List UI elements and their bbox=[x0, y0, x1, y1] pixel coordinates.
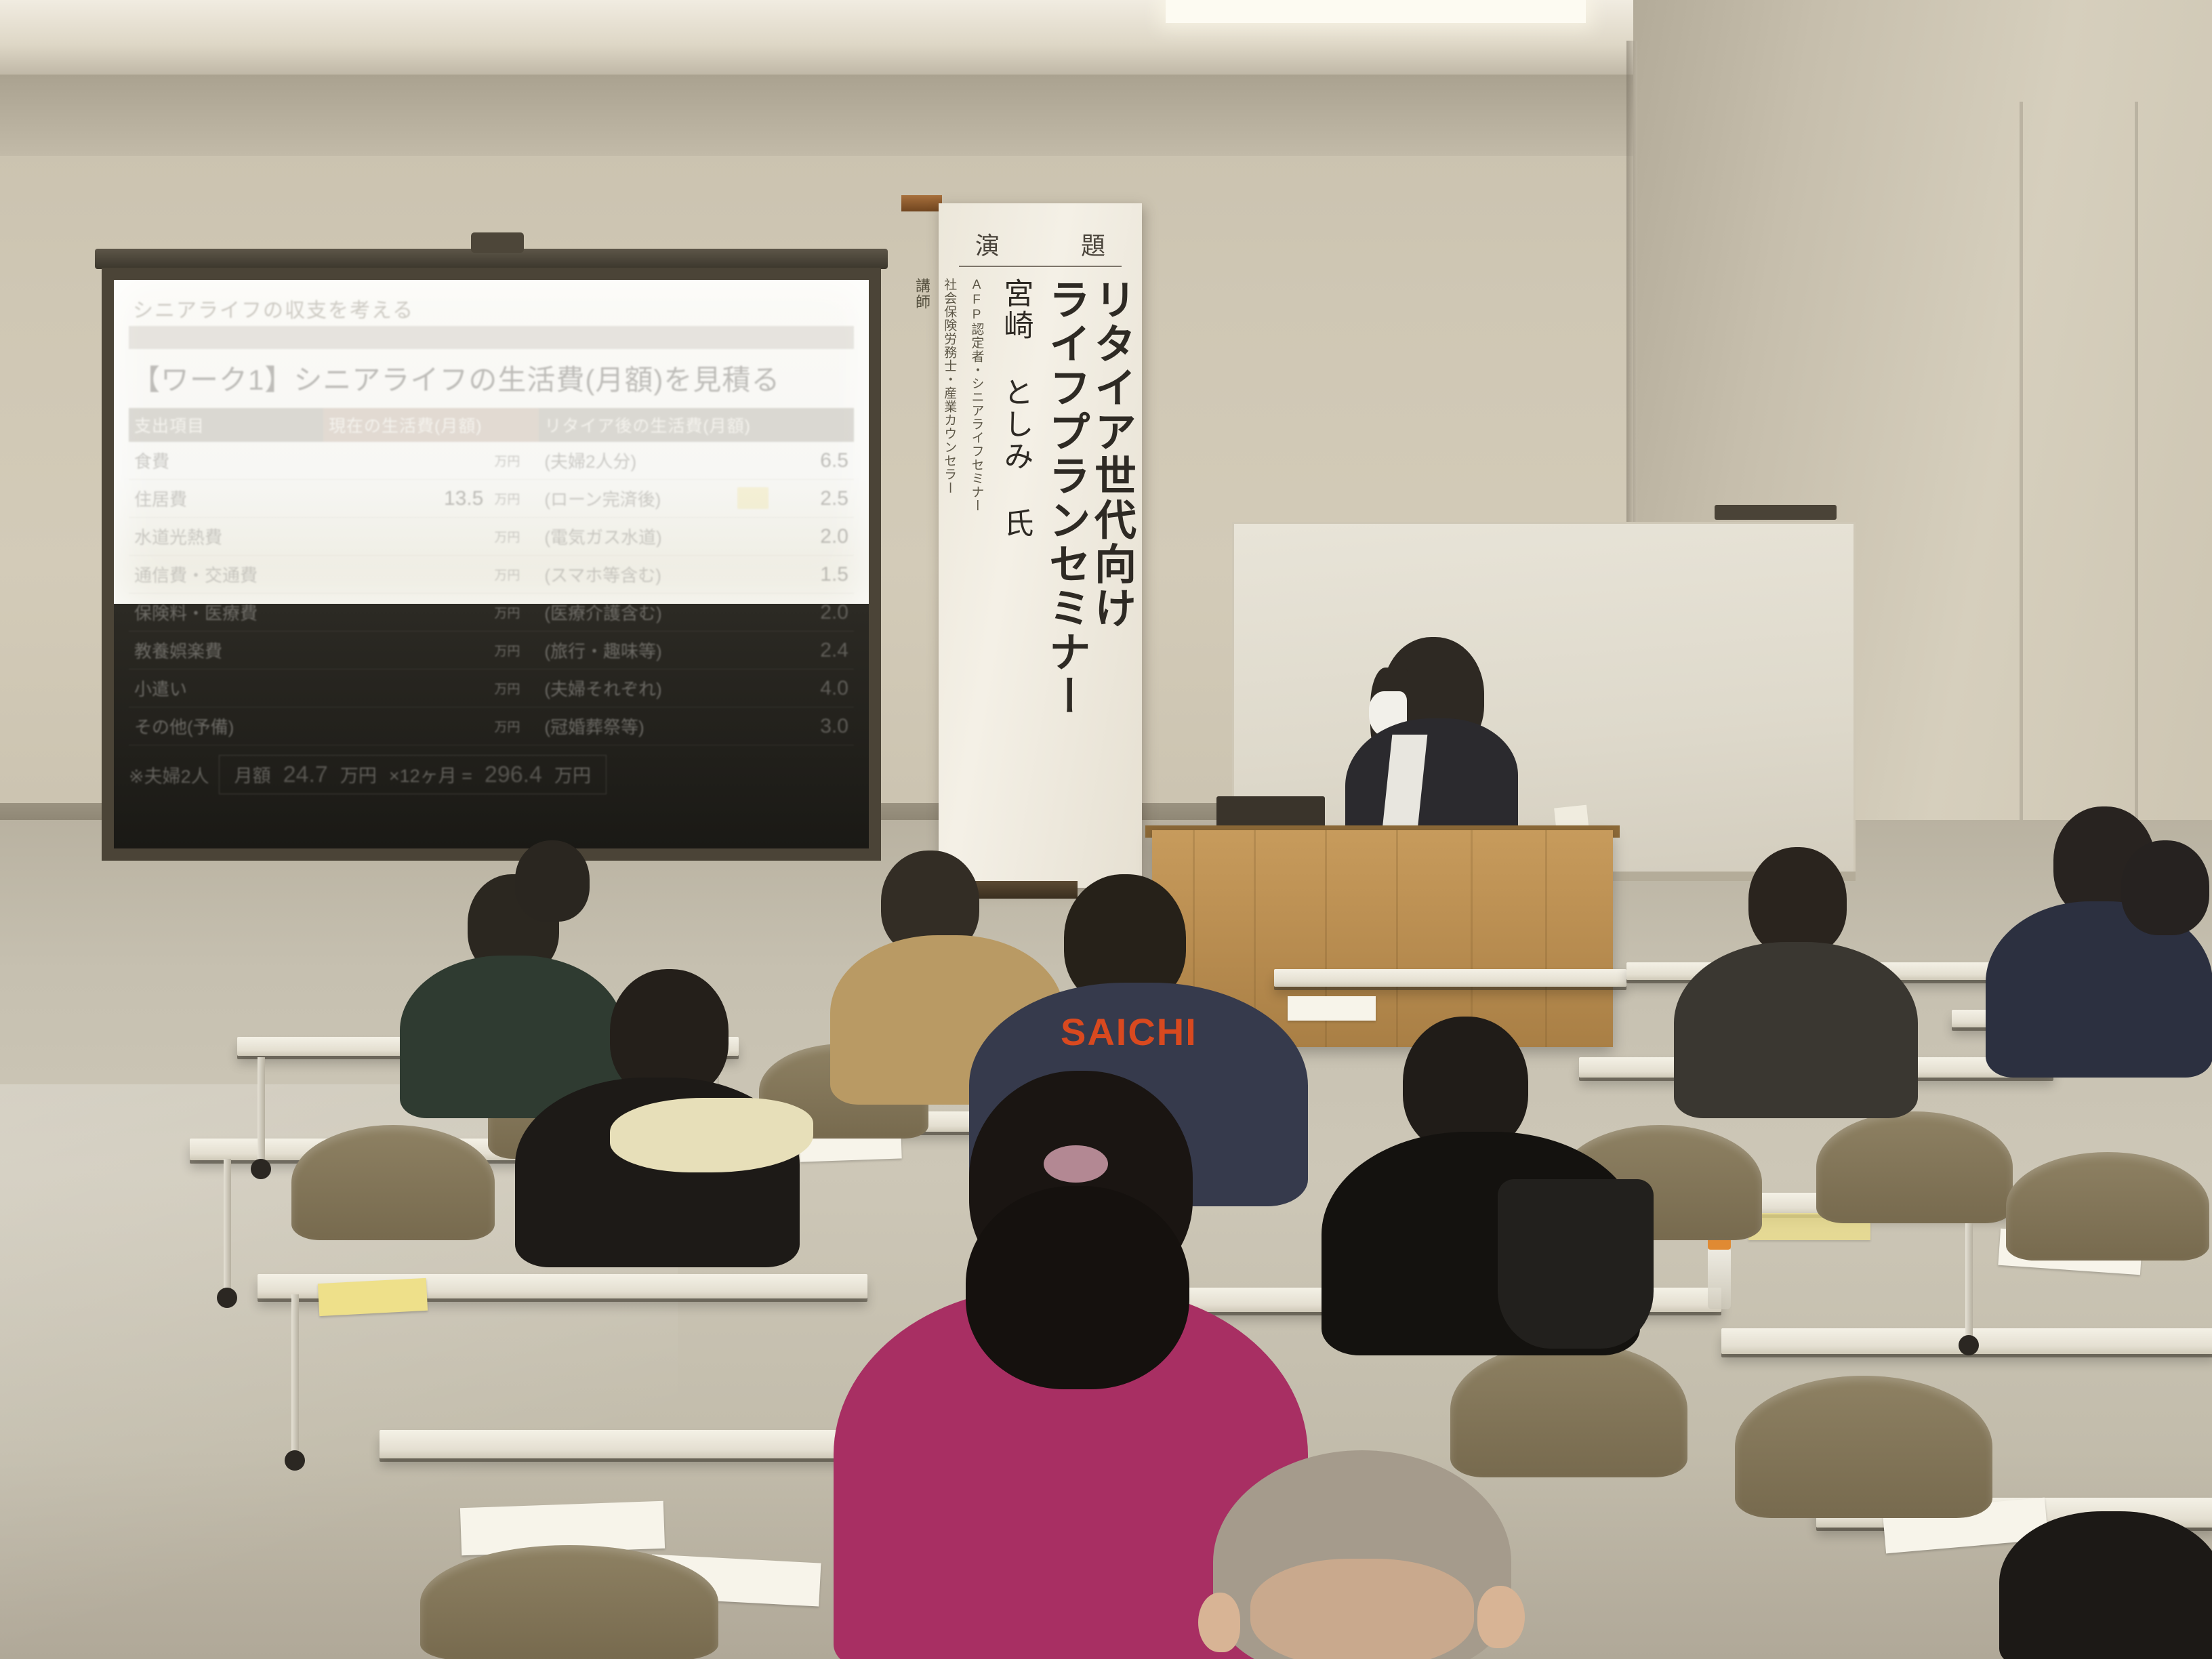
attendee-bag bbox=[1498, 1179, 1654, 1349]
slide-cell: (旅行・趣味等) bbox=[539, 632, 731, 670]
slide-cell: (冠婚葬祭等) bbox=[539, 708, 731, 745]
chair bbox=[1450, 1342, 1687, 1477]
slide-cell: その他(予備) bbox=[129, 708, 323, 745]
slide-cell: 13.5 bbox=[323, 480, 489, 518]
slide-cell: 2.0 bbox=[795, 518, 854, 556]
col-current: 現在の生活費(月額) bbox=[323, 408, 539, 442]
slide-cell: (スマホ等含む) bbox=[539, 556, 731, 594]
seminar-room-photo: シニアライフの収支を考える 【ワーク1】シニアライフの生活費(月額)を見積る 支… bbox=[0, 0, 2212, 1659]
screen-roller-knob bbox=[471, 232, 524, 253]
attendee-forehead bbox=[1250, 1559, 1474, 1659]
slide-cell-highlight bbox=[732, 670, 796, 708]
summary-multiplier: ×12ヶ月 = bbox=[389, 761, 472, 787]
slide-table-row: 水道光熱費万円(電気ガス水道)2.0 bbox=[129, 518, 854, 556]
screen-surface: シニアライフの収支を考える 【ワーク1】シニアライフの生活費(月額)を見積る 支… bbox=[114, 280, 869, 848]
hair-tie bbox=[1044, 1145, 1108, 1183]
slide-cell: 教養娯楽費 bbox=[129, 632, 323, 670]
whiteboard bbox=[1232, 522, 1856, 874]
banner-lecturer-label: 講師 bbox=[911, 278, 933, 874]
slide-cell: 住居費 bbox=[129, 480, 323, 518]
slide-cell-highlight bbox=[732, 442, 796, 480]
summary-monthly-unit: 万円 bbox=[340, 761, 377, 787]
desk-caster bbox=[285, 1450, 305, 1471]
screen-frame: シニアライフの収支を考える 【ワーク1】シニアライフの生活費(月額)を見積る 支… bbox=[102, 268, 881, 861]
slide-cell-highlight bbox=[732, 708, 796, 745]
desk-leg bbox=[224, 1159, 231, 1294]
slide-table-row: 住居費13.5万円(ローン完済後) 2.5 bbox=[129, 480, 854, 518]
attendee-body bbox=[1999, 1511, 2212, 1659]
wall-soffit bbox=[0, 75, 1640, 156]
slide-cell: 万円 bbox=[489, 518, 539, 556]
slide-cell: 6.5 bbox=[795, 442, 854, 480]
slide-cell: 水道光熱費 bbox=[129, 518, 323, 556]
col-retire: リタイア後の生活費(月額) bbox=[539, 408, 854, 442]
attendee-ear bbox=[1198, 1593, 1240, 1652]
slide-cell: 保険料・医療費 bbox=[129, 594, 323, 632]
slide-cell: (ローン完済後) bbox=[539, 480, 731, 518]
projection-screen: シニアライフの収支を考える 【ワーク1】シニアライフの生活費(月額)を見積る 支… bbox=[102, 268, 881, 861]
attendee-head bbox=[515, 840, 590, 922]
col-item: 支出項目 bbox=[129, 408, 323, 442]
desk-leg bbox=[291, 1294, 299, 1457]
banner-vertical-text: リタイア世代向け ライフプランセミナー 宮崎 としみ 氏 AFP認定者・シニアラ… bbox=[939, 278, 1142, 874]
desk-leg bbox=[1965, 1213, 1973, 1342]
slide-content: シニアライフの収支を考える 【ワーク1】シニアライフの生活費(月額)を見積る 支… bbox=[129, 287, 854, 794]
slide-cell: (電気ガス水道) bbox=[539, 518, 731, 556]
slide-table-row: 教養娯楽費万円(旅行・趣味等)2.4 bbox=[129, 632, 854, 670]
slide-table-header-row: 支出項目 現在の生活費(月額) リタイア後の生活費(月額) bbox=[129, 408, 854, 442]
slide-cell: 4.0 bbox=[795, 670, 854, 708]
slide-cell bbox=[323, 518, 489, 556]
hoodie-print-text: SAICHI bbox=[1061, 1010, 1197, 1054]
slide-cell: 小遣い bbox=[129, 670, 323, 708]
slide-cell bbox=[323, 556, 489, 594]
slide-cell: 1.5 bbox=[795, 556, 854, 594]
chair bbox=[1816, 1111, 2013, 1223]
banner-credential-line2: AFP認定者・シニアライフセミナー bbox=[965, 278, 987, 874]
banner-hanging-rod bbox=[901, 195, 942, 211]
slide-cell bbox=[323, 632, 489, 670]
wall-panel-seam bbox=[2020, 102, 2023, 847]
banner-title-line1: リタイア世代向け bbox=[1090, 278, 1132, 874]
slide-cell-highlight bbox=[732, 480, 796, 518]
slide-cell: 通信費・交通費 bbox=[129, 556, 323, 594]
desk bbox=[1274, 969, 1626, 987]
handout-paper bbox=[318, 1278, 428, 1316]
attendee-ponytail bbox=[966, 1186, 1189, 1389]
chair bbox=[291, 1125, 495, 1240]
slide-cell: (夫婦それぞれ) bbox=[539, 670, 731, 708]
slide-cell: 2.5 bbox=[795, 480, 854, 518]
slide-cell: 万円 bbox=[489, 480, 539, 518]
slide-table-head: 支出項目 現在の生活費(月額) リタイア後の生活費(月額) bbox=[129, 408, 854, 442]
summary-annual-value: 296.4 bbox=[485, 762, 542, 788]
slide-cell: 万円 bbox=[489, 632, 539, 670]
chair bbox=[420, 1545, 718, 1659]
handout-paper bbox=[1288, 996, 1376, 1021]
summary-prefix: ※夫婦2人 bbox=[129, 762, 209, 788]
slide-cell-highlight bbox=[732, 632, 796, 670]
slide-cell: 万円 bbox=[489, 556, 539, 594]
slide-table-row: 保険料・医療費万円(医療介護含む)2.0 bbox=[129, 594, 854, 632]
banner-divider bbox=[959, 266, 1122, 267]
speaker-shirt bbox=[1382, 735, 1428, 829]
slide-cell bbox=[323, 442, 489, 480]
banner-speaker-name: 宮崎 としみ 氏 bbox=[994, 278, 1038, 874]
summary-box: 月額 24.7 万円 ×12ヶ月 = 296.4 万円 bbox=[219, 755, 607, 794]
slide-table-row: 食費万円(夫婦2人分)6.5 bbox=[129, 442, 854, 480]
slide-title: 【ワーク1】シニアライフの生活費(月額)を見積る bbox=[129, 356, 854, 408]
wall-panel-seam-2 bbox=[2135, 102, 2138, 847]
slide-kicker: シニアライフの収支を考える bbox=[129, 287, 854, 326]
desk-caster bbox=[251, 1159, 271, 1179]
slide-table-row: 通信費・交通費万円(スマホ等含む)1.5 bbox=[129, 556, 854, 594]
desk-caster bbox=[1959, 1335, 1979, 1355]
slide-cell: 2.4 bbox=[795, 632, 854, 670]
summary-monthly-label: 月額 bbox=[234, 761, 271, 787]
slide-cell bbox=[323, 708, 489, 745]
slide-accent-band bbox=[129, 326, 854, 349]
desk-leg bbox=[258, 1057, 265, 1166]
slide-cell-highlight bbox=[732, 594, 796, 632]
slide-cell: 食費 bbox=[129, 442, 323, 480]
slide-cell bbox=[323, 670, 489, 708]
slide-table-row: 小遣い万円(夫婦それぞれ)4.0 bbox=[129, 670, 854, 708]
slide-cell: (夫婦2人分) bbox=[539, 442, 731, 480]
slide-cell: 2.0 bbox=[795, 594, 854, 632]
slide-cell: 万円 bbox=[489, 594, 539, 632]
attendee-ear bbox=[1477, 1586, 1525, 1648]
banner-header: 演 題 bbox=[939, 226, 1142, 262]
attendee-head bbox=[2121, 840, 2209, 935]
desk-caster bbox=[217, 1288, 237, 1308]
slide-table: 支出項目 現在の生活費(月額) リタイア後の生活費(月額) 食費万円(夫婦2人分… bbox=[129, 408, 854, 745]
chair bbox=[1735, 1376, 1992, 1518]
slide-table-row: その他(予備)万円(冠婚葬祭等)3.0 bbox=[129, 708, 854, 745]
slide-cell: 3.0 bbox=[795, 708, 854, 745]
summary-monthly-value: 24.7 bbox=[283, 762, 328, 788]
attendee-body bbox=[1674, 942, 1918, 1118]
chair bbox=[2006, 1152, 2209, 1261]
ceiling-light-fixture bbox=[1166, 0, 1586, 23]
slide-cell: 万円 bbox=[489, 708, 539, 745]
slide-cell-highlight bbox=[732, 518, 796, 556]
banner-title-line2: ライフプランセミナー bbox=[1044, 278, 1087, 874]
slide-cell: 万円 bbox=[489, 670, 539, 708]
slide-cell-highlight bbox=[732, 556, 796, 594]
summary-annual-unit: 万円 bbox=[554, 761, 591, 787]
banner-credential-line1: 社会保険労務士・産業カウンセラー bbox=[938, 278, 960, 874]
slide-summary: ※夫婦2人 月額 24.7 万円 ×12ヶ月 = 296.4 万円 bbox=[129, 755, 854, 794]
whiteboard-top-clip bbox=[1715, 505, 1837, 520]
attendee-scarf bbox=[610, 1098, 813, 1172]
seminar-banner: 演 題 リタイア世代向け ライフプランセミナー 宮崎 としみ 氏 AFP認定者・… bbox=[939, 203, 1142, 888]
water-bottle bbox=[1708, 1247, 1731, 1309]
slide-cell bbox=[323, 594, 489, 632]
attendee-head bbox=[1748, 847, 1847, 956]
slide-cell: (医療介護含む) bbox=[539, 594, 731, 632]
slide-table-body: 食費万円(夫婦2人分)6.5住居費13.5万円(ローン完済後) 2.5水道光熱費… bbox=[129, 442, 854, 745]
slide-cell: 万円 bbox=[489, 442, 539, 480]
